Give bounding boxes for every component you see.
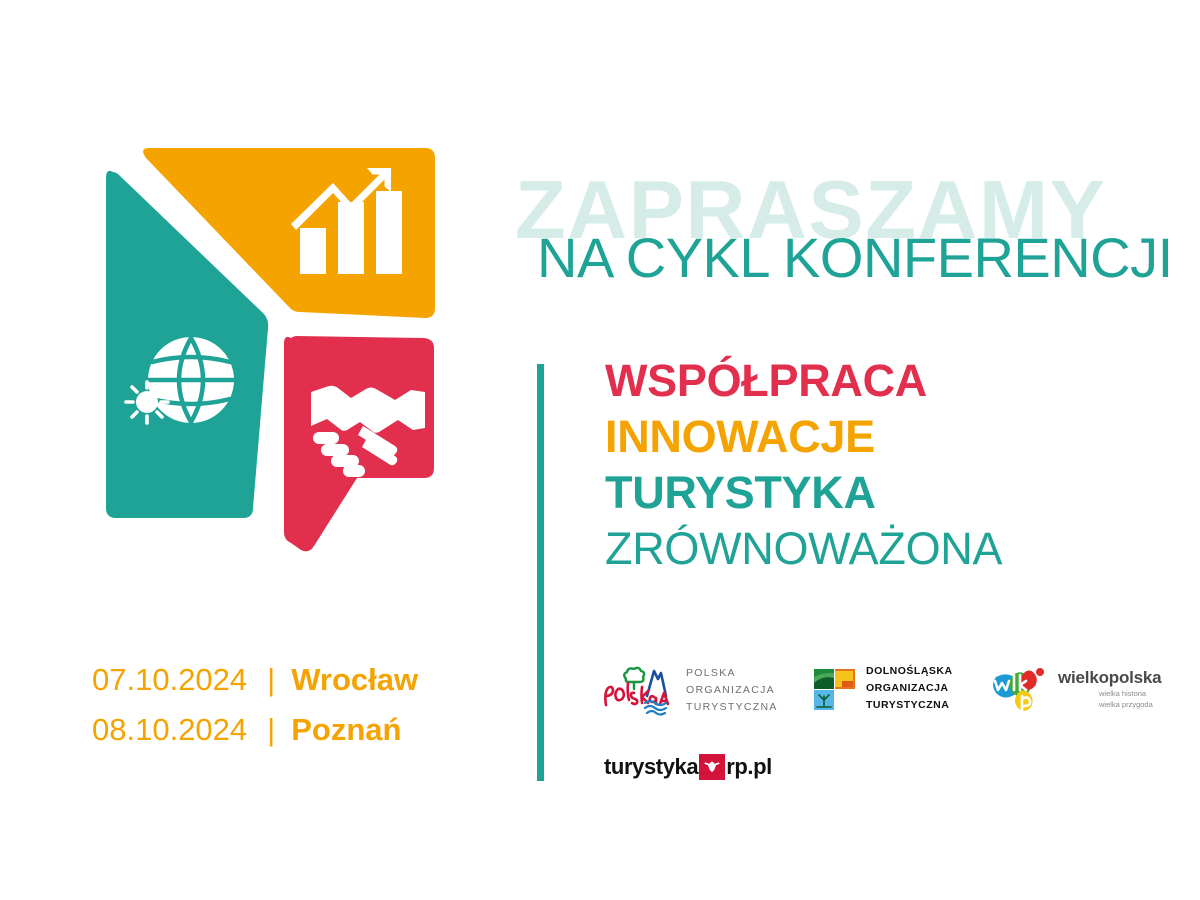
theme-line-wspolpraca: WSPÓŁPRACA [605,358,1125,403]
wlkp-tagline-2: wielka przygoda [1099,700,1161,711]
wlkp-logo-text: wielkopolska wielka historia wielka przy… [1058,669,1161,711]
dolnoslaska-logo-mark [812,664,856,714]
event-date: 08.10.2024 [92,712,247,748]
partner-logo-dot: DOLNOŚLĄSKA ORGANIZACJA TURYSTYCZNA [812,663,953,714]
portal-word-right: rp.pl [726,756,772,778]
wlkp-tagline: wielka historia wielka przygoda [1099,689,1161,711]
event-date: 07.10.2024 [92,662,247,698]
eagle-icon [699,754,725,780]
event-city: Poznań [291,712,401,748]
partner-logo-wielkopolska: wielkopolska wielka historia wielka przy… [988,663,1161,717]
theme-line-innowacje: INNOWACJE [605,414,1125,459]
theme-line-zrownowazona: ZRÓWNOWAŻONA [605,526,1125,571]
wlkp-logo-mark [988,663,1046,717]
pot-logo-text: POLSKA ORGANIZACJA TURYSTYCZNA [686,665,778,716]
polska-logo-mark [598,663,672,717]
event-dates-list: 07.10.2024 | Wrocław 08.10.2024 | Poznań [92,662,512,762]
eagle-glyph [702,759,722,775]
dot-logo-text: DOLNOŚLĄSKA ORGANIZACJA TURYSTYCZNA [866,663,953,714]
partner-logo-pot: POLSKA ORGANIZACJA TURYSTYCZNA [598,663,778,717]
subheading-na-cykl-konferencji: NA CYKL KONFERENCJI [537,230,1173,286]
headline-block: ZAPRASZAMY NA CYKL KONFERENCJI [515,168,1135,293]
dot-line-2: ORGANIZACJA [866,680,953,697]
event-row-wroclaw: 07.10.2024 | Wrocław [92,662,512,698]
dot-line-1: DOLNOŚLĄSKA [866,663,953,680]
event-row-poznan: 08.10.2024 | Poznań [92,712,512,748]
wlkp-name: wielkopolska [1058,669,1161,686]
portal-logo-turystyka-rp-pl[interactable]: turystyka rp.pl [604,752,772,782]
event-separator: | [247,662,291,698]
event-separator: | [247,712,291,748]
brand-panel-crimson [284,336,434,551]
conference-brand-mark [95,140,455,570]
partner-logo-strip: POLSKA ORGANIZACJA TURYSTYCZNA D [598,655,1178,730]
event-city: Wrocław [291,662,418,698]
pot-line-1: POLSKA [686,665,778,682]
vertical-accent-rule [537,364,544,781]
conference-theme-block: WSPÓŁPRACA INNOWACJE TURYSTYKA ZRÓWNOWAŻ… [605,358,1125,571]
portal-word-left: turystyka [604,756,698,778]
theme-line-turystyka: TURYSTYKA [605,470,1125,515]
wlkp-tagline-1: wielka historia [1099,689,1161,700]
dot-line-3: TURYSTYCZNA [866,697,953,714]
pot-line-2: ORGANIZACJA [686,682,778,699]
pot-line-3: TURYSTYCZNA [686,699,778,716]
